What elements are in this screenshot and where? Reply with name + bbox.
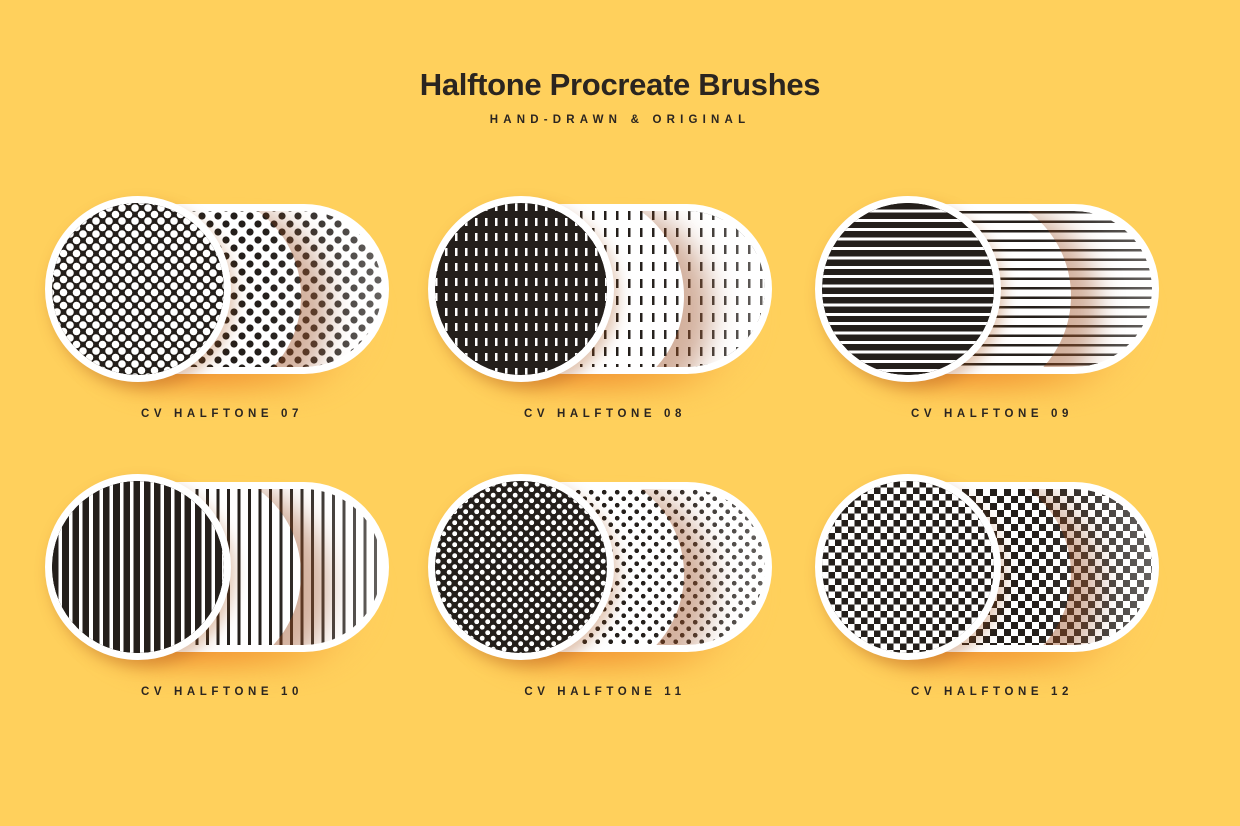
brush-swatch[interactable] xyxy=(42,474,402,662)
brush-swatch[interactable] xyxy=(425,474,785,662)
circle-shape xyxy=(815,474,1001,660)
poster-canvas: { "background_color": "#FFD05C", "ink_co… xyxy=(0,0,1240,826)
brush-tile[interactable]: CV HALFTONE 10 xyxy=(42,474,402,724)
page-subtitle: HAND-DRAWN & ORIGINAL xyxy=(0,114,1240,126)
circle-shape xyxy=(45,474,231,660)
pattern-vertical-dashed-strokes-dark xyxy=(435,203,607,375)
page-title: Halftone Procreate Brushes xyxy=(0,68,1240,102)
circle-pattern-fill xyxy=(435,481,607,653)
brush-swatch[interactable] xyxy=(42,196,402,384)
brush-label: CV HALFTONE 09 xyxy=(812,408,1172,420)
brush-swatch[interactable] xyxy=(425,196,785,384)
circle-shape xyxy=(45,196,231,382)
circle-pattern-fill xyxy=(52,481,224,653)
pattern-checkerboard-dark xyxy=(822,481,994,653)
brush-label: CV HALFTONE 08 xyxy=(425,408,785,420)
brush-label: CV HALFTONE 10 xyxy=(42,686,402,698)
circle-pattern-fill xyxy=(822,481,994,653)
brush-label: CV HALFTONE 12 xyxy=(812,686,1172,698)
circle-pattern-fill xyxy=(822,203,994,375)
poster-header: Halftone Procreate Brushes HAND-DRAWN & … xyxy=(0,68,1240,126)
circle-shape xyxy=(428,474,614,660)
brush-label: CV HALFTONE 11 xyxy=(425,686,785,698)
brush-tile[interactable]: CV HALFTONE 11 xyxy=(425,474,785,724)
brush-swatch[interactable] xyxy=(812,196,1172,384)
circle-pattern-fill xyxy=(52,203,224,375)
pattern-horizontal-stripes-dark xyxy=(822,203,994,375)
brush-grid: CV HALFTONE 07CV HALFTONE 08CV HALFTONE … xyxy=(0,196,1240,736)
pattern-vertical-stripes-dark xyxy=(52,481,224,653)
circle-shape xyxy=(428,196,614,382)
circle-shape xyxy=(815,196,1001,382)
circle-pattern-fill xyxy=(435,203,607,375)
pattern-fine-dot-grid-dark xyxy=(435,481,607,653)
brush-label: CV HALFTONE 07 xyxy=(42,408,402,420)
brush-swatch[interactable] xyxy=(812,474,1172,662)
brush-tile[interactable]: CV HALFTONE 12 xyxy=(812,474,1172,724)
brush-tile[interactable]: CV HALFTONE 09 xyxy=(812,196,1172,446)
brush-tile[interactable]: CV HALFTONE 07 xyxy=(42,196,402,446)
pattern-round-dot-halftone-dark xyxy=(52,203,224,375)
brush-tile[interactable]: CV HALFTONE 08 xyxy=(425,196,785,446)
